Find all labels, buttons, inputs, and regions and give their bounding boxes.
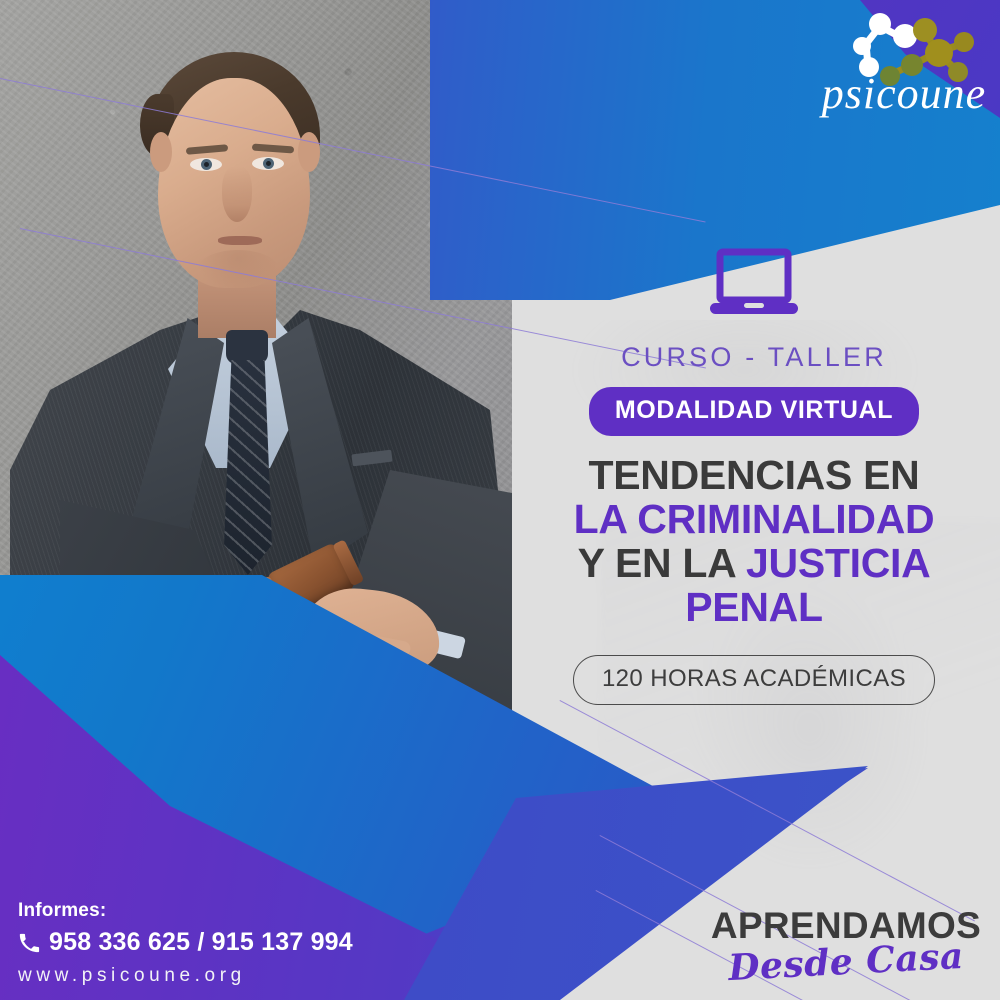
photo-ear-left — [150, 132, 172, 172]
contact-phones-row[interactable]: 958 336 625 / 915 137 994 — [18, 928, 398, 957]
course-info: CURSO - TALLER MODALIDAD VIRTUAL TENDENC… — [520, 248, 988, 705]
tagline-block: APRENDAMOS Desde Casa — [700, 905, 992, 983]
photo-tie-knot — [226, 330, 268, 364]
course-hours-badge: 120 HORAS ACADÉMICAS — [573, 655, 935, 705]
course-title: TENDENCIAS EN LA CRIMINALIDAD Y EN LA JU… — [520, 454, 988, 629]
phone-icon — [18, 932, 40, 954]
photo-chin — [196, 250, 280, 292]
title-line-3-plain: Y EN LA — [578, 540, 746, 586]
course-kicker: CURSO - TALLER — [520, 342, 988, 373]
photo-eye-right — [252, 157, 284, 170]
brand-logo[interactable]: psicoune — [806, 8, 998, 126]
photo-eye-left — [190, 158, 222, 171]
logo-wordmark: psicoune — [810, 72, 998, 116]
title-line-3-highlight: JUSTICIA — [746, 540, 930, 586]
poster-canvas: psicoune CURSO - TALLER MODALIDAD VIRTUA… — [0, 0, 1000, 1000]
title-line-1: TENDENCIAS EN — [589, 452, 920, 498]
photo-nose — [222, 166, 252, 222]
contact-website[interactable]: www.psicoune.org — [18, 965, 398, 987]
title-line-4: PENAL — [685, 584, 822, 630]
modality-badge: MODALIDAD VIRTUAL — [589, 387, 919, 436]
title-line-2: LA CRIMINALIDAD — [574, 496, 935, 542]
contact-block: Informes: 958 336 625 / 915 137 994 www.… — [18, 900, 398, 987]
photo-ear-right — [298, 132, 320, 172]
photo-mouth — [218, 236, 262, 245]
contact-phones: 958 336 625 / 915 137 994 — [49, 928, 353, 957]
contact-label: Informes: — [18, 900, 398, 922]
laptop-icon — [708, 248, 800, 320]
